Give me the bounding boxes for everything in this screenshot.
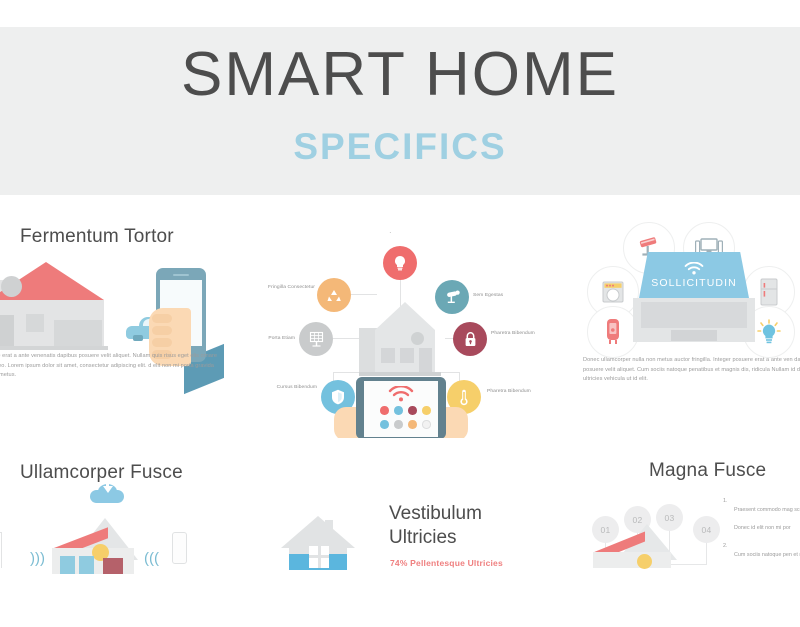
- node-vulputate-lorem[interactable]: [383, 246, 417, 280]
- wall-outline: [0, 532, 2, 568]
- lightbulb-icon: [756, 319, 782, 345]
- node-label-pharetra-lock: Pharetra Bibendum: [491, 330, 542, 337]
- node-label-porta-etiam: Porta Etiam: [259, 335, 295, 342]
- node-sem-egestas[interactable]: [435, 280, 469, 314]
- title-line-1: Vestibulum: [389, 502, 482, 526]
- card-title-ullamcorper: Ullamcorper Fusce: [20, 462, 183, 484]
- house-illustration: [281, 516, 355, 568]
- house-window: [26, 314, 44, 332]
- card-magna-fusce[interactable]: Magna Fusce 01 02 03 04 1. Praesent comm…: [559, 446, 800, 627]
- list-item: 2. Cum sociis natoque pen et magnis dis …: [723, 543, 800, 561]
- device-hub-illustration: SOLLICITUDIN: [583, 226, 799, 354]
- laptop-screen: SOLLICITUDIN: [639, 252, 749, 298]
- recycle-icon: [326, 288, 342, 303]
- app-dot[interactable]: [408, 420, 417, 429]
- shield-icon: [331, 389, 345, 405]
- list-item-number: 1.: [723, 498, 728, 504]
- wifi-signal-left-icon: ))): [30, 550, 45, 567]
- card-title-magna: Magna Fusce: [649, 460, 766, 482]
- ground-line: [0, 346, 108, 350]
- water-heater-icon: [603, 318, 623, 346]
- node-label-vulputate: Vulputate Lorem: [372, 232, 430, 235]
- list-item: 1. Praesent commodo mag scelerisque nisl…: [723, 498, 800, 534]
- cctv-camera-icon: [444, 290, 461, 304]
- infographic: Vulputate Lorem Fringilla Consectetur: [259, 232, 542, 438]
- stat-pellentesque: 74% Pellentesque Ultricies: [390, 558, 503, 568]
- magna-list: 1. Praesent commodo mag scelerisque nisl…: [723, 498, 800, 570]
- card-body-fermentum: posuere erat a ante venenatis dapibus po…: [0, 352, 218, 381]
- cloud-download-icon: [90, 482, 124, 504]
- page-subtitle: SPECIFICS: [0, 128, 800, 165]
- app-dot[interactable]: [380, 406, 389, 415]
- card-sollicitudin[interactable]: SOLLICITUDIN Donec ullamcorper nulla non…: [559, 200, 800, 438]
- step-stem: [706, 542, 707, 565]
- thermometer-icon: [459, 389, 469, 406]
- card-ullamcorper-fusce[interactable]: Ullamcorper Fusce ))) (((: [0, 446, 246, 627]
- laptop-keyboard: [641, 302, 747, 328]
- laptop-trackpad: [671, 330, 717, 341]
- tablet-in-hands: [356, 377, 446, 438]
- phone-speaker: [173, 274, 189, 276]
- card-title-vestibulum: Vestibulum Ultricies: [389, 502, 482, 550]
- tablet-screen: [364, 381, 438, 437]
- card-vestibulum-ultricies[interactable]: Vestibulum Ultricies 74% Pellentesque Ul…: [259, 470, 542, 627]
- refrigerator-icon: [759, 278, 779, 306]
- lock-icon: [464, 332, 477, 347]
- lightbulb-icon: [393, 255, 407, 271]
- app-dot-add[interactable]: [422, 420, 431, 429]
- node-label-fringilla: Fringilla Consectetur: [261, 284, 315, 291]
- page-title: SMART HOME: [0, 44, 800, 106]
- house-door: [0, 315, 14, 348]
- card-smart-home-infographic[interactable]: Vulputate Lorem Fringilla Consectetur: [259, 232, 542, 438]
- connector-line: [331, 338, 361, 339]
- app-dot[interactable]: [394, 406, 403, 415]
- house-illustration: [595, 524, 679, 568]
- hub-circle-water-heater[interactable]: [587, 306, 639, 358]
- gable-circle: [1, 276, 22, 297]
- laptop-screen-label: SOLLICITUDIN: [651, 277, 737, 289]
- node-fringilla-consectetur[interactable]: [317, 278, 351, 312]
- node-porta-etiam[interactable]: [299, 322, 333, 356]
- app-dot[interactable]: [394, 420, 403, 429]
- wifi-icon: [388, 386, 414, 402]
- solar-panel-icon: [309, 331, 324, 347]
- title-line-2: Ultricies: [389, 526, 482, 550]
- slide-canvas: SMART HOME SPECIFICS Fermentum Tortor: [0, 0, 800, 627]
- card-body-sollicitudin: Donec ullamcorper nulla non metus auctor…: [583, 356, 800, 385]
- node-label-sem-egestas: Sem Egestas: [473, 292, 535, 299]
- node-label-cursus: Cursus Bibendum: [263, 384, 317, 391]
- list-item-text: Cum sociis natoque pen et magnis dis par…: [734, 552, 800, 558]
- card-title-fermentum: Fermentum Tortor: [20, 226, 174, 248]
- mini-phone-icon: [172, 532, 187, 564]
- wifi-icon: [684, 262, 704, 275]
- app-dot[interactable]: [408, 406, 417, 415]
- card-fermentum-tortor[interactable]: Fermentum Tortor posue: [0, 200, 246, 438]
- step-badge-04[interactable]: 04: [693, 516, 720, 543]
- node-pharetra-bibendum-lock[interactable]: [453, 322, 487, 356]
- connector-line: [351, 294, 377, 295]
- house-illustration: [0, 262, 140, 352]
- central-house-illustration: [361, 304, 447, 376]
- house-illustration: [54, 518, 138, 574]
- app-dot[interactable]: [422, 406, 431, 415]
- washing-machine-icon: [600, 280, 626, 304]
- wifi-signal-right-icon: (((: [144, 550, 159, 567]
- list-item-text: Praesent commodo mag scelerisque nisl co…: [734, 507, 800, 531]
- app-dot[interactable]: [380, 420, 389, 429]
- list-item-number: 2.: [723, 543, 728, 549]
- node-label-pharetra-thermo: Pharetra Bibendum: [487, 388, 539, 395]
- garage-door: [54, 320, 102, 348]
